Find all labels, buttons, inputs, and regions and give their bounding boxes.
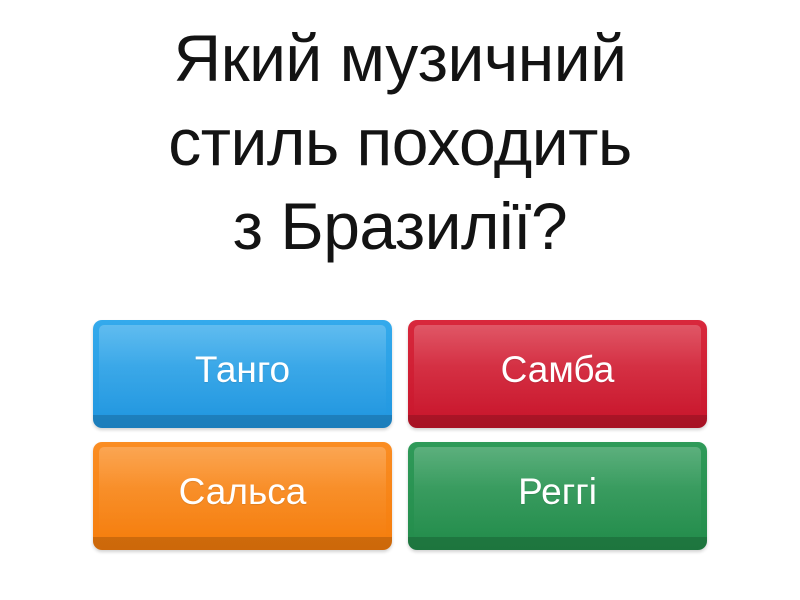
answer-option-tango[interactable]: Танго <box>93 320 392 428</box>
question-line-2: стиль походить <box>50 100 750 184</box>
answer-option-salsa[interactable]: Сальса <box>93 442 392 550</box>
answer-label: Танго <box>195 350 290 390</box>
answer-option-reggae[interactable]: Реггі <box>408 442 707 550</box>
answer-label: Самба <box>501 350 615 390</box>
answer-option-samba[interactable]: Самба <box>408 320 707 428</box>
quiz-question-screen: Який музичний стиль походить з Бразилії?… <box>0 0 800 600</box>
answer-label: Сальса <box>179 472 307 512</box>
question-text: Який музичний стиль походить з Бразилії? <box>50 16 750 268</box>
question-line-3: з Бразилії? <box>50 184 750 268</box>
answer-options-grid: Танго Самба Сальса Реггі <box>93 320 707 550</box>
answer-label: Реггі <box>518 472 597 512</box>
question-line-1: Який музичний <box>50 16 750 100</box>
